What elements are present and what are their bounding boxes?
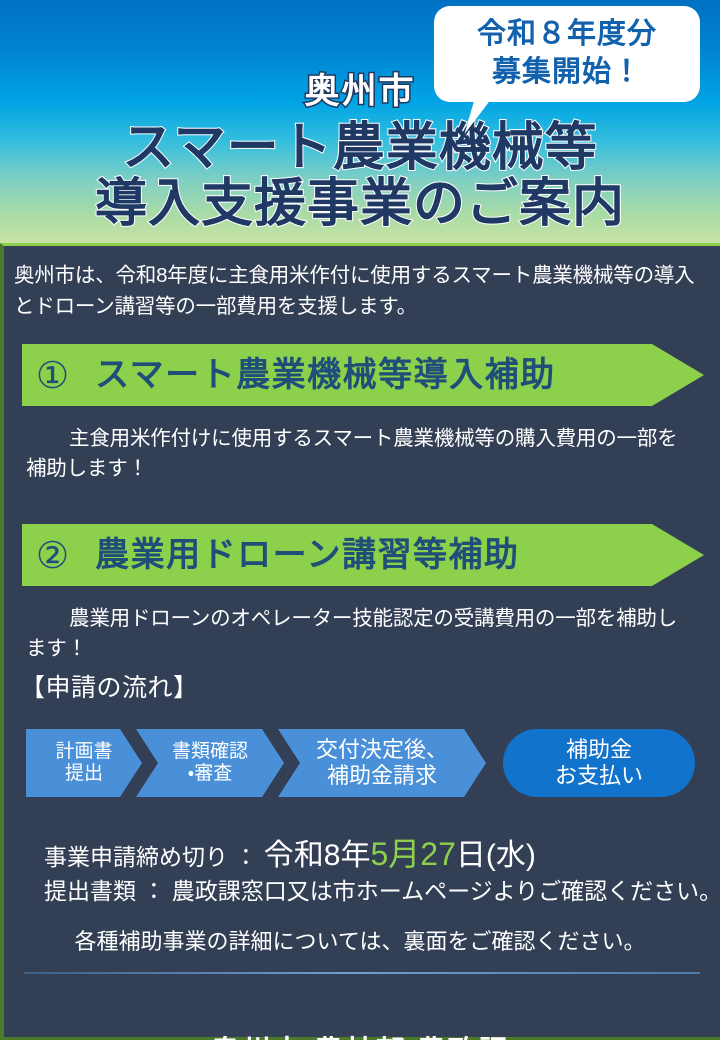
flow-step-3: 交付決定後、 補助金請求 — [278, 729, 486, 797]
section-description-1: 主食用米作付けに使用するスマート農業機械等の購入費用の一部を補助します！ — [26, 424, 686, 485]
page-title-line-1: スマート農業機械等 — [0, 122, 720, 174]
application-flow-diagram: 計画書 提出 書類確認 ・審査 交付決定後、 補助金請求 補助金 お支払い — [26, 729, 698, 797]
footer-divider — [24, 972, 700, 974]
documents-row: 提出書類 ： 農政課窓口又は市ホームページよりご確認ください。 — [44, 876, 720, 908]
deadline-block: 事業申請締め切り ： 令和8年5月27日(水) 提出書類 ： 農政課窓口又は市ホ… — [44, 832, 720, 908]
flyer-page: 奥州市 スマート農業機械等 導入支援事業のご案内 令和８年度分 募集開始！ 奥州… — [0, 0, 720, 1040]
backside-note: 各種補助事業の詳細については、裏面をご確認ください。 — [4, 924, 716, 956]
deadline-suffix: 日(水) — [456, 839, 536, 872]
flow-heading: 【申請の流れ】 — [20, 676, 199, 701]
section-number-2: ② — [36, 537, 69, 574]
flow-step-2-line-2: ・審査 — [188, 763, 232, 785]
section-description-2: 農業用ドローンのオペレーター技能認定の受講費用の一部を補助します！ — [26, 604, 686, 665]
flow-step-4-line-1: 補助金 — [566, 737, 632, 763]
section-banner-label-1: スマート農業機械等導入補助 — [95, 358, 555, 392]
section-number-1: ① — [36, 357, 69, 394]
header-content: 奥州市 スマート農業機械等 導入支援事業のご案内 令和８年度分 募集開始！ — [0, 0, 720, 243]
bubble-line-1: 令和８年度分 — [434, 15, 700, 53]
deadline-era-year: 令和8年 — [264, 839, 371, 872]
section-banner-1: ① スマート農業機械等導入補助 — [22, 344, 704, 406]
bubble-line-2: 募集開始！ — [434, 53, 700, 91]
flow-step-3-line-2: 補助金請求 — [327, 763, 437, 789]
flow-step-1-line-2: 提出 — [65, 763, 103, 785]
flow-step-2-line-1: 書類確認 — [172, 741, 248, 763]
page-title-line-2: 導入支援事業のご案内 — [0, 178, 720, 230]
deadline-row: 事業申請締め切り ： 令和8年5月27日(水) — [44, 832, 720, 876]
deadline-highlight: 5月27 — [370, 836, 455, 872]
intro-paragraph: 奥州市は、令和8年度に主食用米作付に使用するスマート農業機械等の導入とドローン講… — [14, 260, 712, 322]
flow-step-2: 書類確認 ・審査 — [136, 729, 284, 797]
header-banner: 奥州市 スマート農業機械等 導入支援事業のご案内 令和８年度分 募集開始！ — [0, 0, 720, 243]
flow-step-4: 補助金 お支払い — [503, 729, 695, 797]
documents-value: 農政課窓口又は市ホームページよりご確認ください。 — [172, 878, 720, 904]
deadline-label: 事業申請締め切り ： — [44, 844, 264, 870]
flow-step-1: 計画書 提出 — [26, 729, 142, 797]
section-banner-2: ② 農業用ドローン講習等補助 — [22, 524, 704, 586]
flow-step-4-line-2: お支払い — [555, 763, 643, 789]
flow-step-1-line-1: 計画書 — [55, 741, 112, 763]
section-banner-label-2: 農業用ドローン講習等補助 — [95, 538, 519, 572]
content-panel: 奥州市は、令和8年度に主食用米作付に使用するスマート農業機械等の導入とドローン講… — [0, 243, 720, 1040]
documents-label: 提出書類 ： — [44, 878, 172, 904]
flow-step-3-line-1: 交付決定後、 — [316, 737, 448, 763]
department-footer: 奥州市 農林部 農政課 — [4, 1028, 716, 1040]
announcement-speech-bubble: 令和８年度分 募集開始！ — [434, 6, 700, 102]
